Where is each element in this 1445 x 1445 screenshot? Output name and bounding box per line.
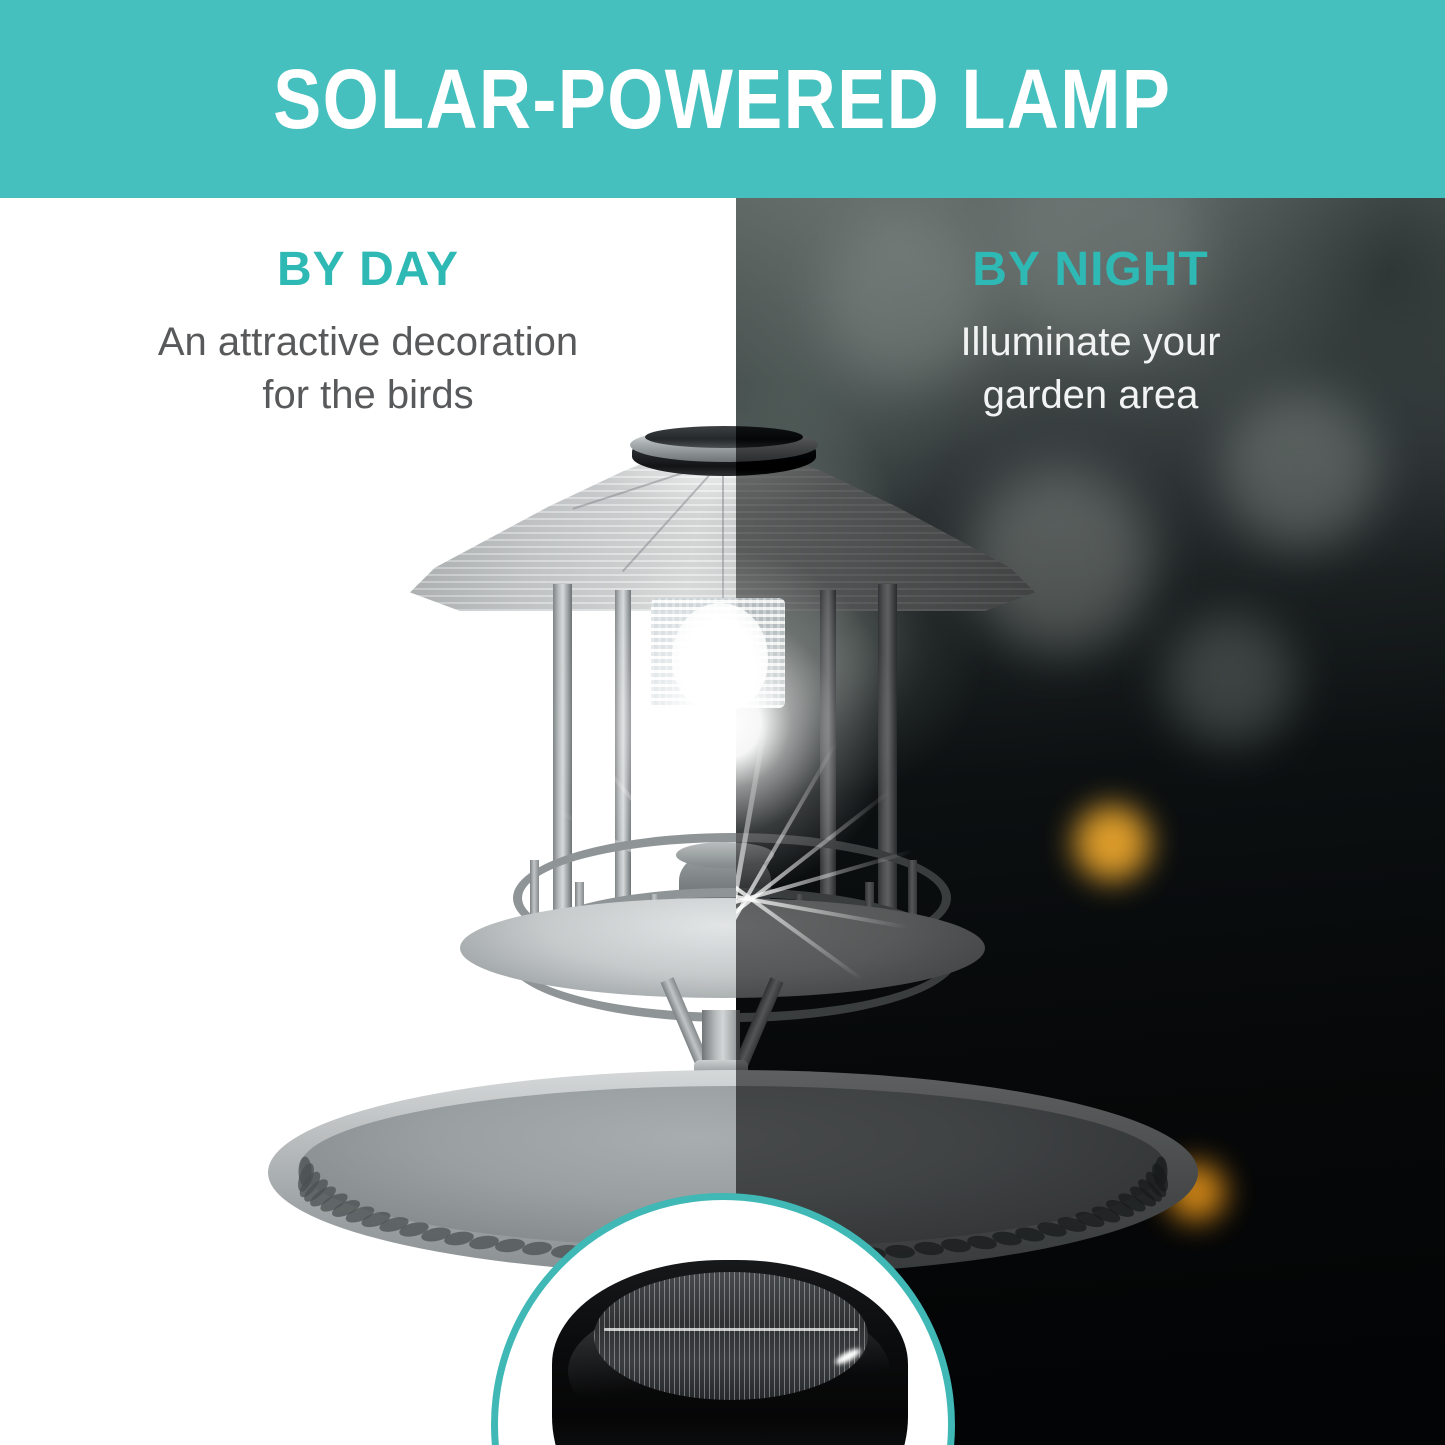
bokeh-light [1068, 799, 1156, 887]
header-banner: SOLAR-POWERED LAMP [0, 0, 1445, 198]
bokeh-light [740, 560, 900, 720]
bokeh-light [810, 205, 1000, 395]
page-title: SOLAR-POWERED LAMP [273, 57, 1171, 141]
solar-panel-busbar [604, 1328, 858, 1331]
solar-panel-cells [594, 1272, 868, 1400]
bokeh-light [1210, 380, 1390, 560]
bokeh-light [1155, 605, 1305, 755]
bokeh-light [1162, 1158, 1230, 1226]
product-infographic: SOLAR-POWERED LAMP [0, 0, 1445, 1445]
bokeh-light [955, 455, 1165, 665]
